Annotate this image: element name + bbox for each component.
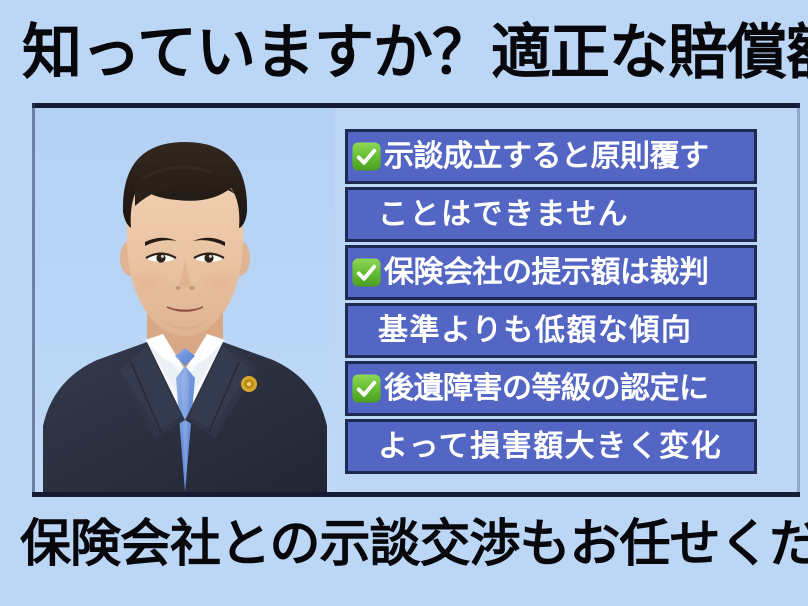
statement-item-1: 示談成立すると原則覆す <box>345 129 757 184</box>
check-mark-button-icon <box>351 373 382 404</box>
page-title: 知っていますか？適正な賠償額 <box>0 14 808 92</box>
check-mark-button-icon <box>351 257 382 288</box>
divider-right <box>797 103 800 497</box>
statement-text: 後遺障害の等級の認定に <box>384 374 709 404</box>
advertisement-poster: 知っていますか？適正な賠償額 <box>0 0 808 606</box>
lawyer-portrait-panel <box>35 108 335 492</box>
statement-item-6: よって損害額大きく変化 <box>345 419 757 474</box>
statement-item-4: 基準よりも低額な傾向 <box>345 303 757 358</box>
statement-text: 示談成立すると原則覆す <box>384 142 709 172</box>
statement-text: ことはできません <box>378 200 629 230</box>
lawyer-portrait-photo <box>35 108 335 492</box>
statement-text: 基準よりも低額な傾向 <box>378 316 692 346</box>
statement-item-3: 保険会社の提示額は裁判 <box>345 245 757 300</box>
statement-list: 示談成立すると原則覆す ことはできません 保険会社の提示額は裁判 基準よりも低額… <box>345 129 757 474</box>
statement-item-2: ことはできません <box>345 187 757 242</box>
statement-item-5: 後遺障害の等級の認定に <box>345 361 757 416</box>
check-mark-button-icon <box>351 141 382 172</box>
footer-tagline: 保険会社との示談交渉もお任せください <box>0 508 808 578</box>
statement-text: 保険会社の提示額は裁判 <box>384 258 709 288</box>
statement-text: よって損害額大きく変化 <box>378 432 722 462</box>
divider-bottom <box>32 492 800 497</box>
